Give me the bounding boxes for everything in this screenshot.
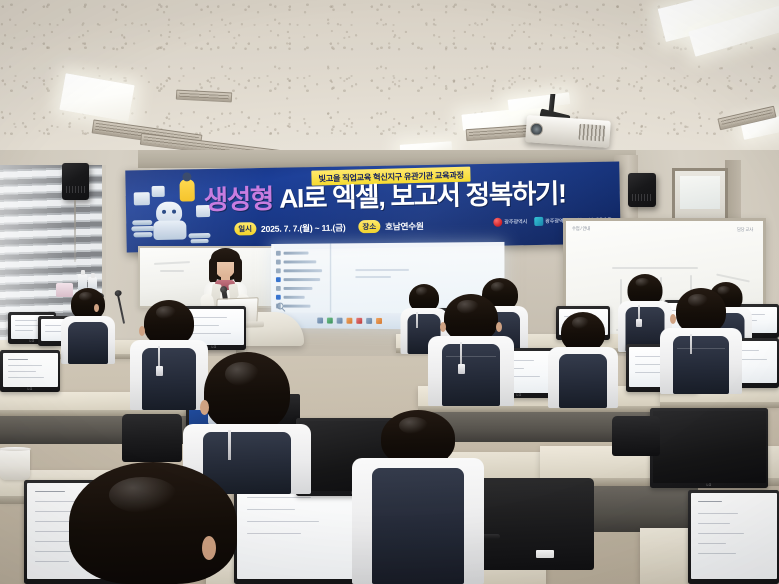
menu-item-icon (276, 295, 281, 300)
attendee-ear (496, 322, 502, 332)
banner-robot-body (153, 220, 186, 240)
menu-item-icon (276, 268, 281, 273)
projection-search-icon (277, 303, 284, 310)
taskbar-windows-icon (317, 318, 323, 324)
chair-inventory-tag (536, 550, 554, 558)
hair-highlight (636, 278, 650, 288)
screen-text-line (8, 359, 28, 361)
vent-slats (469, 128, 527, 138)
chair[interactable] (612, 416, 660, 456)
banner-doc-icon (134, 192, 150, 205)
taskbar-app-icon (376, 318, 382, 324)
robot-eye-right-icon (172, 210, 176, 214)
vest-seam (446, 356, 496, 357)
canvas-text-line (355, 269, 409, 271)
monitor-brand-label: LG (211, 345, 216, 349)
whiteboard-scribble (154, 261, 190, 264)
taskbar-app-icon (327, 318, 333, 324)
banner-book-stack-icon (133, 232, 152, 237)
whiteboard-scribble (160, 270, 184, 272)
attendee-vest (68, 322, 108, 364)
banner-book-stack-icon (188, 233, 210, 238)
attendee-vest (559, 354, 607, 408)
banner-place-label: 장소 (358, 220, 380, 233)
monitor[interactable]: LG (0, 350, 60, 392)
attendee (428, 294, 514, 406)
attendee-head (444, 294, 498, 342)
monitor-brand-label: LG (516, 393, 521, 397)
attendee-lanyard (228, 430, 231, 460)
attendee-foreground (348, 410, 488, 584)
monitor[interactable] (688, 490, 779, 584)
menu-item-icon (276, 260, 281, 265)
monitor-powered-off[interactable]: LG (650, 408, 768, 488)
classroom-photo-scene: 빛고을 직업교육 혁신지구 유관기관 교육과정 생성형 AI로 엑셀, 보고서 … (0, 0, 779, 584)
screen-text-line (698, 501, 722, 503)
menu-item-label (284, 305, 311, 308)
presenter-hair-side (234, 258, 242, 283)
attendee-ear (139, 326, 145, 336)
monitor-brand-label: LG (706, 483, 711, 487)
wall-speaker-left (62, 163, 89, 200)
monitor-brand-label: LG (27, 387, 32, 391)
taskbar-app-icon (356, 318, 362, 324)
projection-menu-item (276, 251, 309, 256)
screen-text-line (8, 365, 42, 367)
projection-menu-item (276, 268, 322, 273)
screen-text-line (15, 320, 37, 322)
attendee (548, 312, 618, 408)
banner-date-label: 일시 (234, 222, 256, 235)
monitor-screen[interactable] (653, 411, 766, 484)
vent-slats (179, 93, 229, 100)
menu-item-label (284, 287, 313, 290)
hair-highlight (688, 294, 708, 308)
banner-person-icon (179, 179, 194, 201)
attendee-head (561, 312, 605, 352)
attendee-head (204, 352, 290, 432)
gwangju-city-logo: 광주광역시 (493, 217, 527, 227)
monitor-screen[interactable] (3, 353, 58, 388)
attendee-lanyard (460, 342, 462, 366)
projection-menu-item (276, 286, 312, 291)
hair-highlight (225, 362, 259, 386)
robot-eye-left-icon (162, 210, 166, 214)
attendee (660, 288, 742, 394)
taskbar-app-icon (366, 318, 372, 324)
banner-place-value: 호남연수원 (385, 220, 424, 233)
menu-item-label (284, 260, 317, 263)
attendee-ear (200, 400, 209, 415)
screen-text-line (8, 371, 36, 373)
attendee-ear (670, 314, 676, 324)
menu-item-icon (276, 251, 281, 256)
ceiling-projector (525, 115, 611, 148)
banner-book-stack-icon (131, 226, 154, 231)
education-office-mark-icon (534, 217, 543, 226)
vest-seam (677, 348, 725, 349)
whiteboard-scribble (612, 267, 698, 269)
speaker-cable (74, 200, 76, 262)
hair-highlight (399, 417, 429, 434)
attendee-ear (94, 304, 99, 312)
projection-menu-item-active (276, 277, 320, 282)
attendee-lanyard (638, 305, 640, 320)
monitor-brand-label: LG (29, 339, 34, 343)
attendee-vest (673, 336, 729, 394)
projection-menu-item-selected (276, 295, 305, 300)
screen-text-line (698, 553, 736, 555)
hair-highlight (156, 306, 176, 320)
attendee-lanyard (416, 312, 418, 328)
canvas-text-line (355, 276, 391, 278)
gwangju-city-mark-icon (493, 218, 502, 227)
attendee-foreground (46, 462, 260, 584)
hair-highlight (491, 282, 505, 292)
screen-text-line (8, 377, 44, 379)
ceiling (0, 0, 779, 172)
banner-date-value: 2025. 7. 7.(월) ~ 11.(금) (261, 221, 346, 235)
projector-lens-icon (530, 122, 544, 136)
cup-rim (0, 447, 31, 451)
attendee-head (69, 462, 237, 584)
gwangju-city-logo-text: 광주광역시 (504, 218, 527, 225)
screen-text-line (15, 330, 33, 332)
projection-menu-item (276, 259, 316, 264)
screen-text-line (698, 533, 744, 535)
menu-item-label (284, 252, 309, 255)
attendee-badge (458, 364, 465, 374)
projector-vent-grille (578, 124, 605, 142)
attendee-badge (636, 319, 642, 327)
banner-book-stack-icon (191, 239, 209, 243)
hair-highlight (416, 287, 428, 295)
menu-item-icon (276, 277, 281, 282)
banner-title: 생성형 AI로 엑셀, 보고서 정복하기! (204, 180, 614, 214)
whiteboard-note-right: 담당 교사 (737, 227, 753, 233)
back-window-glass (680, 176, 720, 209)
screen-text-line (698, 543, 726, 545)
event-banner: 빛고을 직업교육 혁신지구 유관기관 교육과정 생성형 AI로 엑셀, 보고서 … (125, 161, 620, 252)
hair-highlight (457, 300, 479, 314)
banner-title-accent: 생성형 (204, 184, 274, 215)
taskbar-app-icon (346, 318, 352, 324)
menu-item-label (284, 269, 322, 272)
wall-speaker-right (628, 173, 656, 207)
presenter-hair-side (209, 258, 217, 283)
hair-highlight (109, 477, 176, 514)
banner-title-main: AI로 엑셀, 보고서 정복하기! (279, 178, 566, 213)
hair-highlight (572, 317, 590, 329)
attendee-lanyard (158, 346, 160, 368)
whiteboard-note-left: 수업 / 안내 (572, 226, 590, 232)
attendee-badge (156, 366, 163, 376)
attendee-vest (372, 468, 464, 584)
paper-cup (0, 448, 30, 480)
monitor-screen[interactable] (691, 493, 777, 580)
menu-item-label (284, 278, 321, 281)
attendee-ear (202, 536, 216, 560)
banner-doc-icon (152, 186, 165, 197)
screen-text-line (698, 523, 730, 525)
taskbar-app-icon (337, 318, 343, 324)
attendee (60, 288, 116, 363)
attendee-lanyard (690, 334, 692, 354)
attendee-vest (442, 344, 500, 406)
screen-text-line (698, 513, 738, 515)
hair-highlight (79, 292, 93, 302)
attendee-ear (440, 322, 446, 332)
banner-book-stack-icon (132, 220, 152, 225)
menu-item-icon (276, 286, 281, 291)
chair[interactable] (122, 414, 182, 462)
menu-item-label (284, 296, 305, 299)
